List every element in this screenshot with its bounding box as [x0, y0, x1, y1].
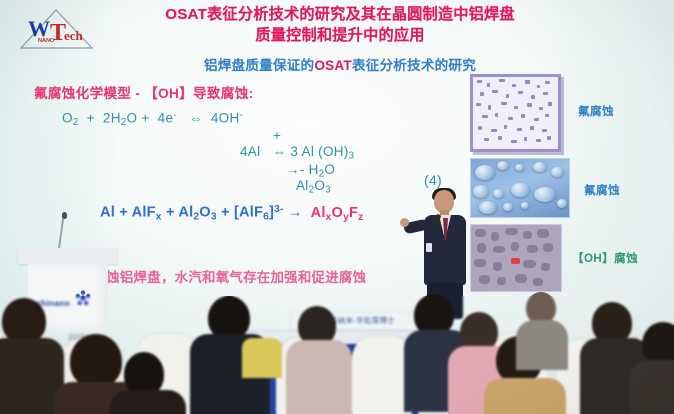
main-reaction-equation: Al + AlFx + Al2O3 + [AlF6]3- → AlxOyFz	[100, 204, 363, 222]
micrograph-3-marker	[511, 258, 520, 264]
micrograph-1	[470, 74, 561, 152]
micrograph-2-label: 氟腐蚀	[584, 182, 620, 198]
equation-plus-sign: +	[273, 128, 281, 143]
podium-mic-head	[62, 212, 67, 219]
conclusion-text: : 氟腐蚀铝焊盘，水汽和氧气存在加强和促进腐蚀	[70, 266, 366, 286]
conclusion-body: 氟腐蚀铝焊盘，水汽和氧气存在加强和促进腐蚀	[79, 270, 367, 285]
reaction-product: AlxOyFz	[311, 205, 364, 221]
conference-presentation-photo: W T ech NANO OSAT表征分析技术的研究及其在晶圆制造中铝焊盘 质量…	[0, 0, 674, 414]
equation-line-1: O2 + 2H2O + 4e- ⇔ 4OH-	[62, 110, 243, 128]
podium-top	[18, 248, 118, 264]
audience	[0, 296, 674, 414]
presenter-left-hand	[400, 218, 409, 227]
presenter-badge	[426, 243, 432, 252]
micrograph-1-label: 氟腐蚀	[578, 103, 614, 119]
equation-line-4: Al2O3	[296, 178, 331, 196]
equation-number: (4)	[424, 172, 442, 188]
chair	[352, 336, 412, 414]
micrograph-1-image	[470, 74, 561, 152]
equation-line-2: 4Al ⇔ 3 Al (OH)3	[240, 144, 354, 162]
micrograph-3-label: 【OH】腐蚀	[572, 250, 638, 266]
